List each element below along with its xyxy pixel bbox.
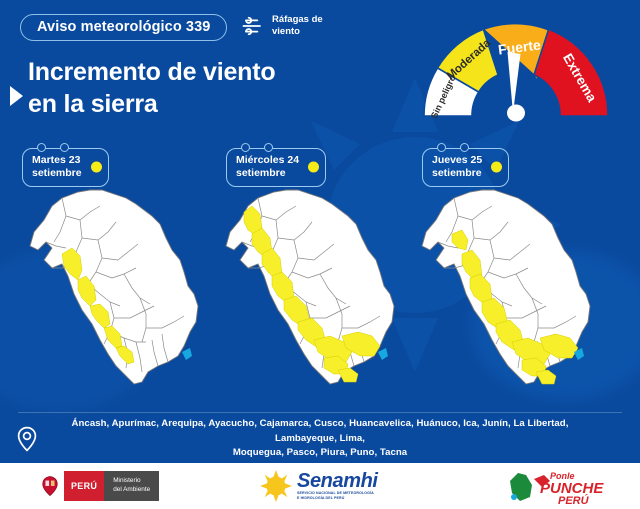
gust-label-group: Ráfagas de viento <box>240 14 323 38</box>
campaign-logo: Ponle PUNCHE PERÚ <box>500 467 620 507</box>
senamhi-sun-icon <box>258 469 294 503</box>
chip-pin-icon <box>37 143 46 152</box>
ministry-line2: del Ambiente <box>113 486 150 495</box>
ministry-line1: Ministerio <box>113 477 150 486</box>
location-pin-icon <box>16 426 38 452</box>
map-martes-23 <box>22 176 222 398</box>
date-chip-dot <box>491 162 502 173</box>
wind-gust-icon <box>240 15 266 37</box>
chip-pin-icon <box>437 143 446 152</box>
footer-bar: PERÚ Ministerio del Ambiente Senamhi SER… <box>0 463 640 509</box>
senamhi-wordmark: Senamhi <box>297 471 378 491</box>
date-chip-dot <box>91 162 102 173</box>
peru-label: PERÚ <box>64 471 104 501</box>
map-land-outline <box>30 190 198 384</box>
date-chip-dot <box>308 162 319 173</box>
divider <box>18 412 622 413</box>
chip-pin-icon <box>460 143 469 152</box>
title-arrow-icon <box>10 86 23 106</box>
page-title-line2: en la sierra <box>28 88 368 120</box>
peru-coat-of-arms-icon <box>36 471 64 501</box>
campaign-line3: PERÚ <box>558 494 590 507</box>
regions-line2: Moquegua, Pasco, Piura, Puno, Tacna <box>48 446 592 460</box>
chip-pin-icon <box>60 143 69 152</box>
map-coastal-marker <box>378 348 388 360</box>
map-jueves-25 <box>414 176 614 398</box>
gust-label-text: Ráfagas de viento <box>272 14 323 38</box>
weather-advisory-poster: Aviso meteorológico 339 Ráfagas de vient… <box>0 0 640 509</box>
gust-label-line2: viento <box>272 26 323 38</box>
chip-pins <box>241 143 273 152</box>
map-miercoles-24 <box>218 176 418 398</box>
chip-pins <box>437 143 469 152</box>
date-chip-day: Martes 23 <box>32 154 82 167</box>
senamhi-subtitle-line2: E HIDROLOGÍA DEL PERÚ <box>297 496 378 501</box>
affected-regions-text: Áncash, Apurímac, Arequipa, Ayacucho, Ca… <box>48 417 592 460</box>
regions-line1: Áncash, Apurímac, Arequipa, Ayacucho, Ca… <box>48 417 592 446</box>
page-title-line1: Incremento de viento <box>28 56 368 88</box>
advisory-number-pill: Aviso meteorológico 339 <box>20 14 227 41</box>
affected-regions-bar: Áncash, Apurímac, Arequipa, Ayacucho, Ca… <box>0 415 640 463</box>
date-chip-day: Jueves 25 <box>432 154 482 167</box>
ministry-label: Ministerio del Ambiente <box>104 471 159 501</box>
chip-pins <box>37 143 69 152</box>
chip-pin-icon <box>264 143 273 152</box>
gust-label-line1: Ráfagas de <box>272 14 323 26</box>
page-title: Incremento de viento en la sierra <box>28 56 368 120</box>
date-chip-day: Miércoles 24 <box>236 154 299 167</box>
senamhi-logo: Senamhi SERVICIO NACIONAL DE METEOROLOGÍ… <box>258 469 378 503</box>
chip-pin-icon <box>241 143 250 152</box>
ministry-logo: PERÚ Ministerio del Ambiente <box>36 471 159 501</box>
severity-gauge: Sin peligro Moderada Fuerte Extrema <box>408 18 624 122</box>
map-coastal-marker <box>182 348 192 360</box>
